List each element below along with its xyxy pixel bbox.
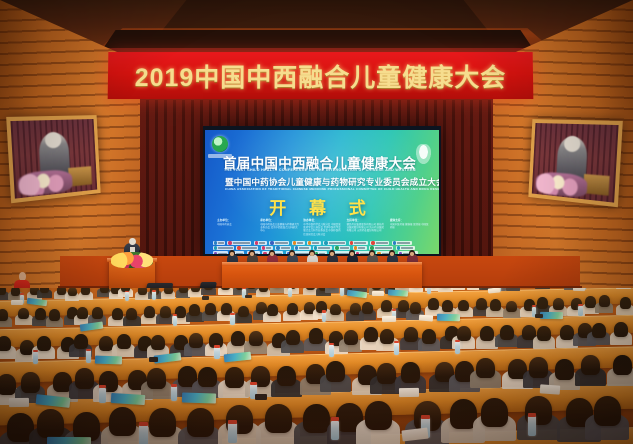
attendee-head [151,335,165,350]
water-bottle [171,386,178,401]
attendee-head [506,301,517,313]
credit-heading: 支持单位： [347,218,386,222]
attendee-head [265,404,292,433]
attendee-head [309,328,323,343]
attendee-head [68,288,77,296]
attendee-head [77,307,88,319]
attendee-head [560,325,574,340]
attendee-head [117,334,131,349]
sponsor-logo-mark [214,252,217,254]
credit-column: 承办单位： 中国中药协会儿童健康与药物研究专业委员会 北京中西医结合儿科研究中心 [260,218,299,240]
attendee-head [613,355,632,376]
bottle-cap [250,382,257,385]
attendee-head [480,326,494,341]
sponsor-logo-mark [214,241,217,244]
sponsor-logo-mark [214,246,217,249]
water-bottle [331,421,340,441]
conference-booklet [540,311,563,318]
conference-booklet [47,436,91,444]
sponsor-logo-mark [371,241,374,244]
attendee-head [81,288,90,295]
sponsor-logo-name [376,242,388,244]
bottle-cap [528,413,537,417]
water-bottle [455,341,460,353]
sponsor-logo-row [213,241,431,245]
water-bottle [340,288,344,296]
sponsor-logo-chip [323,241,346,245]
dignitary-face [390,252,395,256]
attendee-head [457,326,471,341]
attendee-head [126,308,137,320]
attendee-head [267,304,278,316]
attendee-head [259,288,268,292]
attendee-head [225,367,244,388]
water-bottle [173,316,178,326]
conference-booklet [182,392,216,403]
attendee-head [49,309,60,321]
attendee-head [380,329,394,344]
bottle-cap [455,340,460,342]
credit-lines: 中国中药协会 [217,223,256,226]
attendee-head [0,336,11,351]
water-bottle [152,291,156,300]
screen-title-en: THE FIRST CHILD HEALTH CONFERENCE ON THE… [224,168,427,172]
bottle-cap [421,415,430,419]
attendee-shoulders [409,288,424,292]
sponsor-logo-chip [292,241,305,245]
dignitary-face [270,252,275,256]
attendee-head [381,300,392,312]
sponsor-logo-chip [370,241,389,245]
sponsor-logo-chip [392,241,412,245]
attendee-head [372,288,381,290]
attendee-shoulders [506,288,521,291]
attendee-head [592,323,606,338]
mobile-phone [535,314,543,318]
bottle-cap [329,343,334,345]
paper-handout [487,288,499,293]
attendee-head [277,366,296,387]
attendee-head [481,398,508,427]
paper-handout [372,291,384,296]
sponsor-logo-name [218,242,223,244]
attendee-shoulders [451,288,466,290]
bottle-cap [392,309,397,311]
sponsor-logo-mark [293,241,296,244]
attendee-head [581,355,600,376]
attendee-head [147,368,166,389]
dignitary-face [370,252,375,256]
head-table-top [222,262,422,266]
sponsor-logo-mark [393,241,396,244]
attendee-head [553,298,564,310]
screen-headline: 开 幕 式 [205,194,439,219]
attendee-head [189,304,200,316]
attendee-head [11,288,20,296]
attendee-head [144,306,155,318]
attendee-head [179,288,188,293]
attendee-head [404,327,418,342]
left-side-screen [6,115,100,203]
bottle-cap [214,345,219,347]
credit-column: 媒体支持： 中国中医药报 健康报 医师报 中国医药报 [390,218,429,240]
water-bottle [125,292,129,301]
green-circle-logo-icon [212,136,228,152]
main-led-screen-frame: 首届中国中西融合儿童健康大会 THE FIRST CHILD HEALTH CO… [203,126,441,257]
attendee-head [189,333,203,348]
attendee-shoulders [325,288,340,293]
attendee-head [164,288,173,294]
water-bottle [288,288,292,297]
attendee-head [21,372,40,393]
attendee-head [100,288,109,293]
credit-heading: 承办单位： [260,218,299,222]
attendee-head [620,297,631,309]
attendee-head [198,367,217,388]
mobile-phone [245,295,252,298]
attendee-head [286,330,300,345]
attendee-head [365,401,392,430]
attendee-head [344,330,358,345]
attendee-head [238,306,249,318]
attendee-head [442,300,453,312]
bottle-cap [152,290,156,292]
attendee-head [490,299,501,311]
paper-handout [539,384,560,394]
mobile-phone [255,394,267,400]
paper-handout [573,288,585,291]
sponsor-logo-name [233,242,250,244]
main-led-screen: 首届中国中西融合儿童健康大会 THE FIRST CHILD HEALTH CO… [205,130,439,254]
sponsor-logo-name [275,242,288,244]
sponsor-logo-name [297,242,303,244]
attendee-shoulders [616,288,631,289]
water-bottle [394,343,399,355]
attendee-head [458,300,469,312]
sponsor-logo-mark [350,241,353,244]
bottle-cap [33,350,38,352]
attendee-head [112,308,123,320]
dignitary-face [290,252,295,256]
attendee-head [249,331,263,346]
attendee-head [410,302,421,314]
sponsor-logo-name [329,242,345,244]
attendee-head [138,288,147,295]
sponsor-logo-chip [269,241,289,245]
credit-column: 主办单位： 中国中药协会 [217,218,256,240]
conference-booklet [388,289,408,296]
credit-lines: 中国中药协会儿童健康与药物研究专业委员会 北京中西医结合儿科研究中心 [260,223,299,233]
speaker-head [129,238,136,246]
paper-handout [399,388,420,397]
bottle-cap [86,349,91,351]
sponsor-logo-chip [307,241,321,245]
conference-photo: 2019中国中西融合儿童健康大会 首届中国中西融合儿童健康大会 THE FIRS… [0,0,633,444]
mobile-phone [149,357,158,362]
attendee-head [599,295,610,307]
attendee-head [0,309,8,321]
bottle-cap [230,313,235,315]
bottle-cap [228,420,237,424]
audience-seating [0,288,633,444]
water-bottle [86,350,91,362]
sponsor-logo-mark [270,241,273,244]
attendee-head [422,329,436,344]
attendee-head [594,396,621,425]
main-red-banner: 2019中国中西融合儿童健康大会 [108,52,534,99]
credit-heading: 协办单位： [303,218,342,222]
bottle-cap [99,385,106,388]
water-bottle [528,416,537,436]
screen-subtitle-en: CHINA ASSOCIATION OF TRADITIONAL CHINESE… [225,187,430,191]
attendee-head [37,336,51,351]
paper-handout [381,316,395,322]
side-screen-podium [583,174,610,196]
paper-handout [11,299,23,304]
credit-lines: 健民药业集团股份有限公司 葵花药业集团股份有限公司 济川药业集团有限公司 以岭药… [347,223,386,233]
attendee-head [231,331,245,346]
water-bottle [230,314,235,324]
attendee-head [109,407,136,436]
attendee-head [614,322,628,337]
right-side-screen [528,119,622,207]
water-bottle [139,425,148,444]
credit-lines: 中华中医药学会儿科分会 中国民族医药学会儿科分会 世界中医药学会联合会儿科专业委… [303,223,342,236]
credit-heading: 主办单位： [217,218,256,222]
attendee-head [555,359,574,380]
podium-flower-arrangement [111,252,153,268]
credit-column: 支持单位： 健民药业集团股份有限公司 葵花药业集团股份有限公司 济川药业集团有限… [347,218,386,240]
attendee-head [18,308,29,320]
attendee-head [500,325,514,340]
attendee-head [40,288,49,293]
credit-heading: 媒体支持： [390,218,429,222]
sponsor-logo-name [312,242,319,244]
bottle-cap [139,422,148,426]
attendee-head [401,362,420,383]
attendee-head [191,288,200,292]
dignitary-face [250,252,255,256]
bottle-cap [331,417,340,421]
attendee-head [330,304,341,316]
conference-booklet [437,314,460,321]
attendee-head [92,307,103,319]
sponsor-logo-mark [228,241,231,244]
sponsor-logo-mark [255,241,258,244]
bottle-cap [171,384,178,387]
credit-column: 协办单位： 中华中医药学会儿科分会 中国民族医药学会儿科分会 世界中医药学会联合… [303,218,342,240]
water-bottle [329,345,334,357]
attendee-shoulders [270,288,285,293]
attendee-head [74,334,88,349]
bottle-cap [20,293,24,295]
attendee-head [37,409,64,438]
mobile-phone [202,296,209,299]
paper-handout [419,315,433,322]
banner-title-text: 2019中国中西融合儿童健康大会 [134,58,506,94]
water-bottle [322,312,327,322]
sponsor-logo-chip [213,241,225,245]
sponsor-logo-chip [227,241,251,245]
water-bottle [214,347,219,359]
dignitary-face [330,252,335,256]
conference-booklet [95,355,122,364]
dignitary-face [310,252,315,256]
attendee-head [326,361,345,382]
sponsor-logo-name [259,242,265,244]
water-bottle [33,352,38,364]
attendee-head [160,306,171,318]
attendee-head [175,306,186,318]
bottle-cap [322,310,327,312]
attendee-head [35,308,46,320]
attendee-head [377,363,396,384]
attendee-head [303,404,330,433]
attendee-head [529,357,548,378]
sponsor-logo-mark [324,241,327,244]
sponsor-logo-mark [308,241,311,244]
sponsor-logo-name [354,242,366,244]
attendee-head [149,408,176,437]
credit-lines: 中国中医药报 健康报 医师报 中国医药报 [390,223,429,229]
dignitary-face [350,252,355,256]
attendee-head [537,326,551,341]
attendee-head [537,297,548,309]
attendee-head [75,368,94,389]
attendee-head [0,288,6,295]
sponsor-logo-chip [254,241,267,245]
attendee-head [476,358,495,379]
screen-credit-columns: 主办单位： 中国中药协会 承办单位： 中国中药协会儿童健康与药物研究专业委员会 … [217,218,429,240]
water-bottle [578,306,583,316]
attendee-head [205,303,216,315]
attendee-head [362,302,373,314]
dignitary-face [230,252,235,256]
water-bottle [99,388,106,403]
water-bottle [427,288,431,294]
attendee-head [187,408,214,437]
attendee-head [428,298,439,310]
water-bottle [228,423,237,443]
dignitary-face [410,252,415,256]
attendee-head [0,374,16,395]
sponsor-logo-name [397,242,410,244]
sponsor-logo-chip [349,241,368,245]
attendee-head [287,303,298,315]
paper-handout [9,398,30,407]
